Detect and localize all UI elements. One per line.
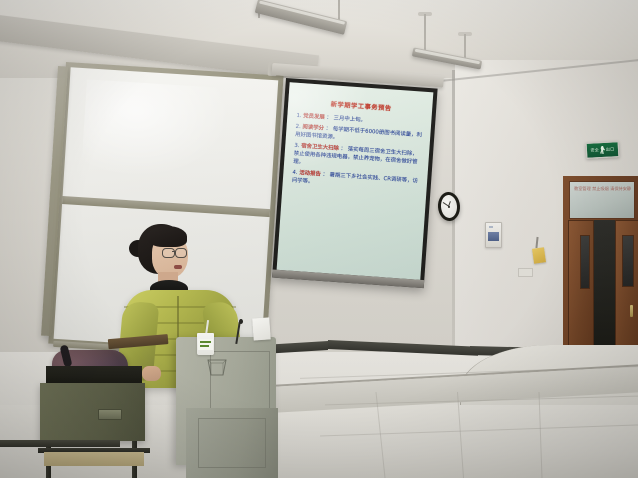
cup-label-line bbox=[200, 345, 209, 347]
projection-screen: 新学期学工事务预告 1. 党员发展 ： 三月中上旬。 2. 阅读学分 ： 每学期… bbox=[272, 78, 438, 288]
cabinet-shelf bbox=[44, 452, 144, 466]
panel-led-icon bbox=[489, 226, 493, 228]
slide-title: 新学期学工事务预告 bbox=[297, 97, 425, 115]
classroom-photo: 新学期学工事务预告 1. 党员发展 ： 三月中上旬。 2. 阅读学分 ： 每学期… bbox=[0, 0, 638, 478]
yellow-tag bbox=[532, 247, 546, 264]
bullet-separator: ： bbox=[326, 115, 332, 121]
bullet-number: 4. bbox=[292, 170, 298, 176]
door-window-right bbox=[622, 235, 634, 287]
exit-sign-label-right: 出口 bbox=[606, 146, 615, 152]
panel-display bbox=[488, 232, 499, 241]
whiteboard-glare bbox=[81, 79, 232, 183]
bullet-separator: ： bbox=[326, 126, 332, 132]
light-rod bbox=[424, 14, 426, 54]
door-handle-icon[interactable] bbox=[630, 305, 633, 317]
bullet-separator: ： bbox=[322, 172, 328, 178]
slide-content: 新学期学工事务预告 1. 党员发展 ： 三月中上旬。 2. 阅读学分 ： 每学期… bbox=[277, 82, 433, 272]
microphone-icon bbox=[239, 319, 243, 324]
exit-sign-label-left: 安全 bbox=[590, 147, 599, 153]
emergency-exit-icon: 安全 出口 bbox=[586, 141, 620, 159]
bullet-separator: ： bbox=[340, 146, 346, 152]
running-person-icon bbox=[600, 146, 605, 154]
bullet-keyword: 党员发展 bbox=[303, 113, 325, 120]
clock-center-pin bbox=[448, 205, 450, 207]
mouth bbox=[174, 265, 182, 269]
door-transom-window: 教室管理 禁止吸烟 请保持安静 bbox=[569, 181, 635, 219]
bullet-number: 1. bbox=[296, 113, 302, 119]
transom-notice-text: 教室管理 禁止吸烟 请保持安静 bbox=[574, 186, 632, 192]
bullet-number: 3. bbox=[294, 143, 300, 149]
bullet-body: 三月中上旬。 bbox=[333, 115, 366, 123]
clock-face bbox=[440, 194, 458, 218]
hand-left bbox=[142, 366, 161, 381]
cup-label bbox=[198, 339, 213, 350]
lectern-base-panel bbox=[198, 418, 266, 468]
bullet-keyword: 宿舍卫生大扫除 bbox=[301, 143, 339, 152]
door-window-left bbox=[580, 235, 590, 289]
metal-cabinet-drawer[interactable] bbox=[40, 383, 145, 441]
bullet-keyword: 阅读学分 bbox=[302, 124, 324, 131]
glasses-bridge bbox=[172, 251, 176, 252]
name-card bbox=[252, 317, 270, 340]
drawer-handle-icon[interactable] bbox=[98, 409, 122, 420]
paper-cup bbox=[197, 333, 214, 355]
trapezoid-logo-icon bbox=[206, 358, 228, 377]
projection-screen-surface: 新学期学工事务预告 1. 党员发展 ： 三月中上旬。 2. 阅读学分 ： 每学期… bbox=[277, 82, 434, 280]
lectern-base bbox=[186, 408, 278, 478]
glasses-lens-left bbox=[162, 248, 175, 258]
wall-control-panel[interactable] bbox=[485, 222, 502, 248]
hair-fringe bbox=[147, 226, 187, 247]
cup-label-line bbox=[200, 341, 211, 343]
bullet-number: 2. bbox=[295, 124, 301, 130]
wall-outlet bbox=[518, 268, 533, 277]
desk-edge bbox=[0, 440, 120, 447]
wall-corner bbox=[452, 70, 455, 380]
glasses-lens-right bbox=[175, 248, 187, 258]
bullet-keyword: 活动报告 bbox=[299, 170, 321, 177]
